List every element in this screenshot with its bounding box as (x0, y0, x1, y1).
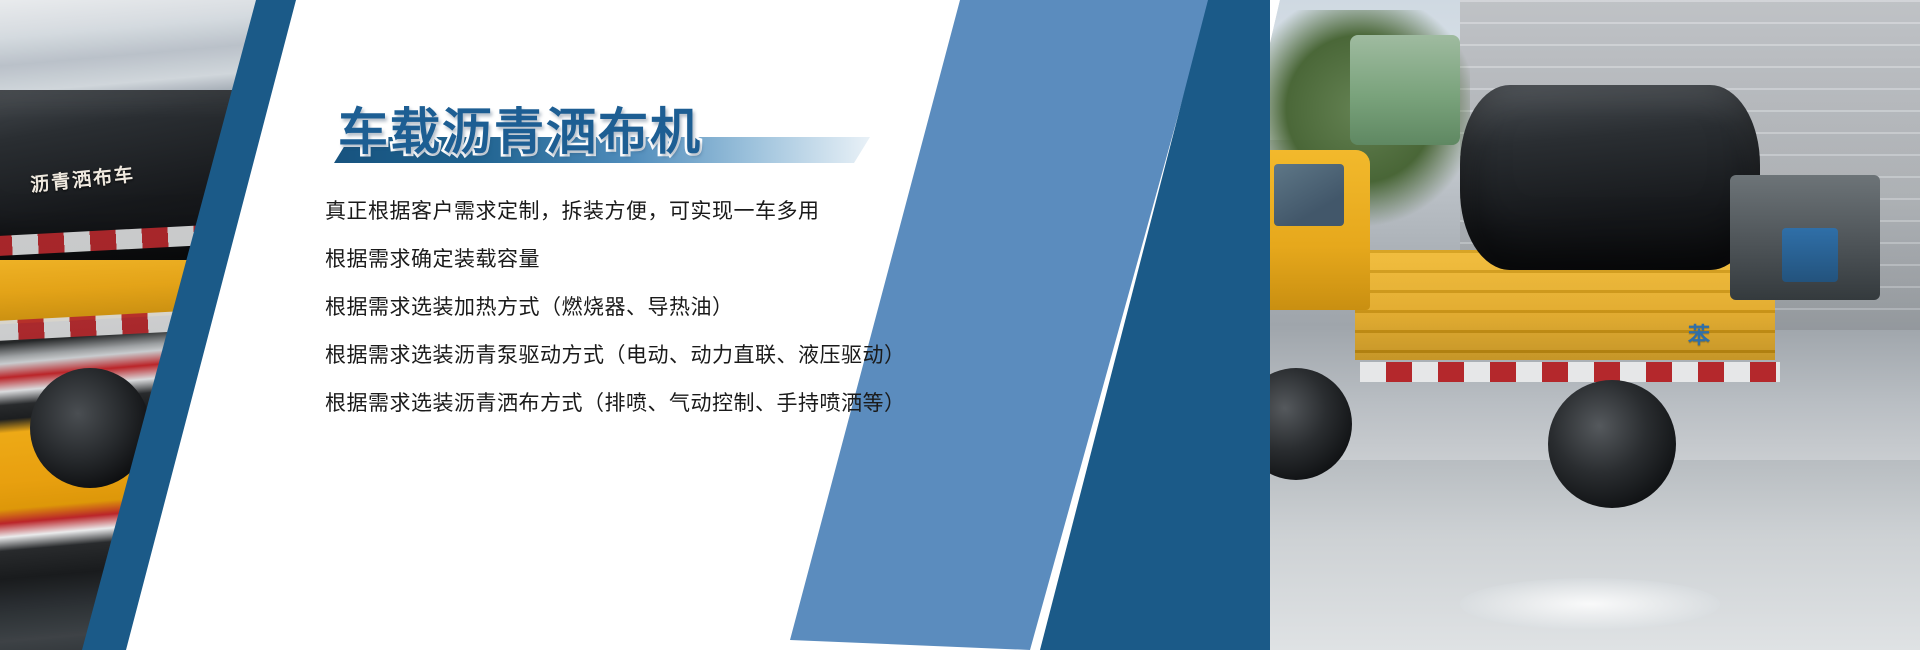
feature-item: 根据需求选装沥青泵驱动方式（电动、动力直联、液压驱动） (325, 332, 925, 380)
feature-item: 根据需求选装加热方式（燃烧器、导热油） (325, 284, 925, 332)
feature-item: 真正根据客户需求定制，拆装方便，可实现一车多用 (325, 188, 925, 236)
product-banner: 沥青洒布车 苯 (0, 0, 1920, 650)
feature-list: 真正根据客户需求定制，拆装方便，可实现一车多用 根据需求确定装载容量 根据需求选… (325, 188, 925, 428)
banner-content: 车载沥青洒布机 真正根据客户需求定制，拆装方便，可实现一车多用 根据需求确定装载… (0, 0, 1920, 650)
title-block: 车载沥青洒布机 (330, 92, 890, 172)
feature-item: 根据需求确定装载容量 (325, 236, 925, 284)
feature-item: 根据需求选装沥青洒布方式（排喷、气动控制、手持喷洒等） (325, 380, 925, 428)
page-title: 车载沥青洒布机 (338, 92, 702, 164)
